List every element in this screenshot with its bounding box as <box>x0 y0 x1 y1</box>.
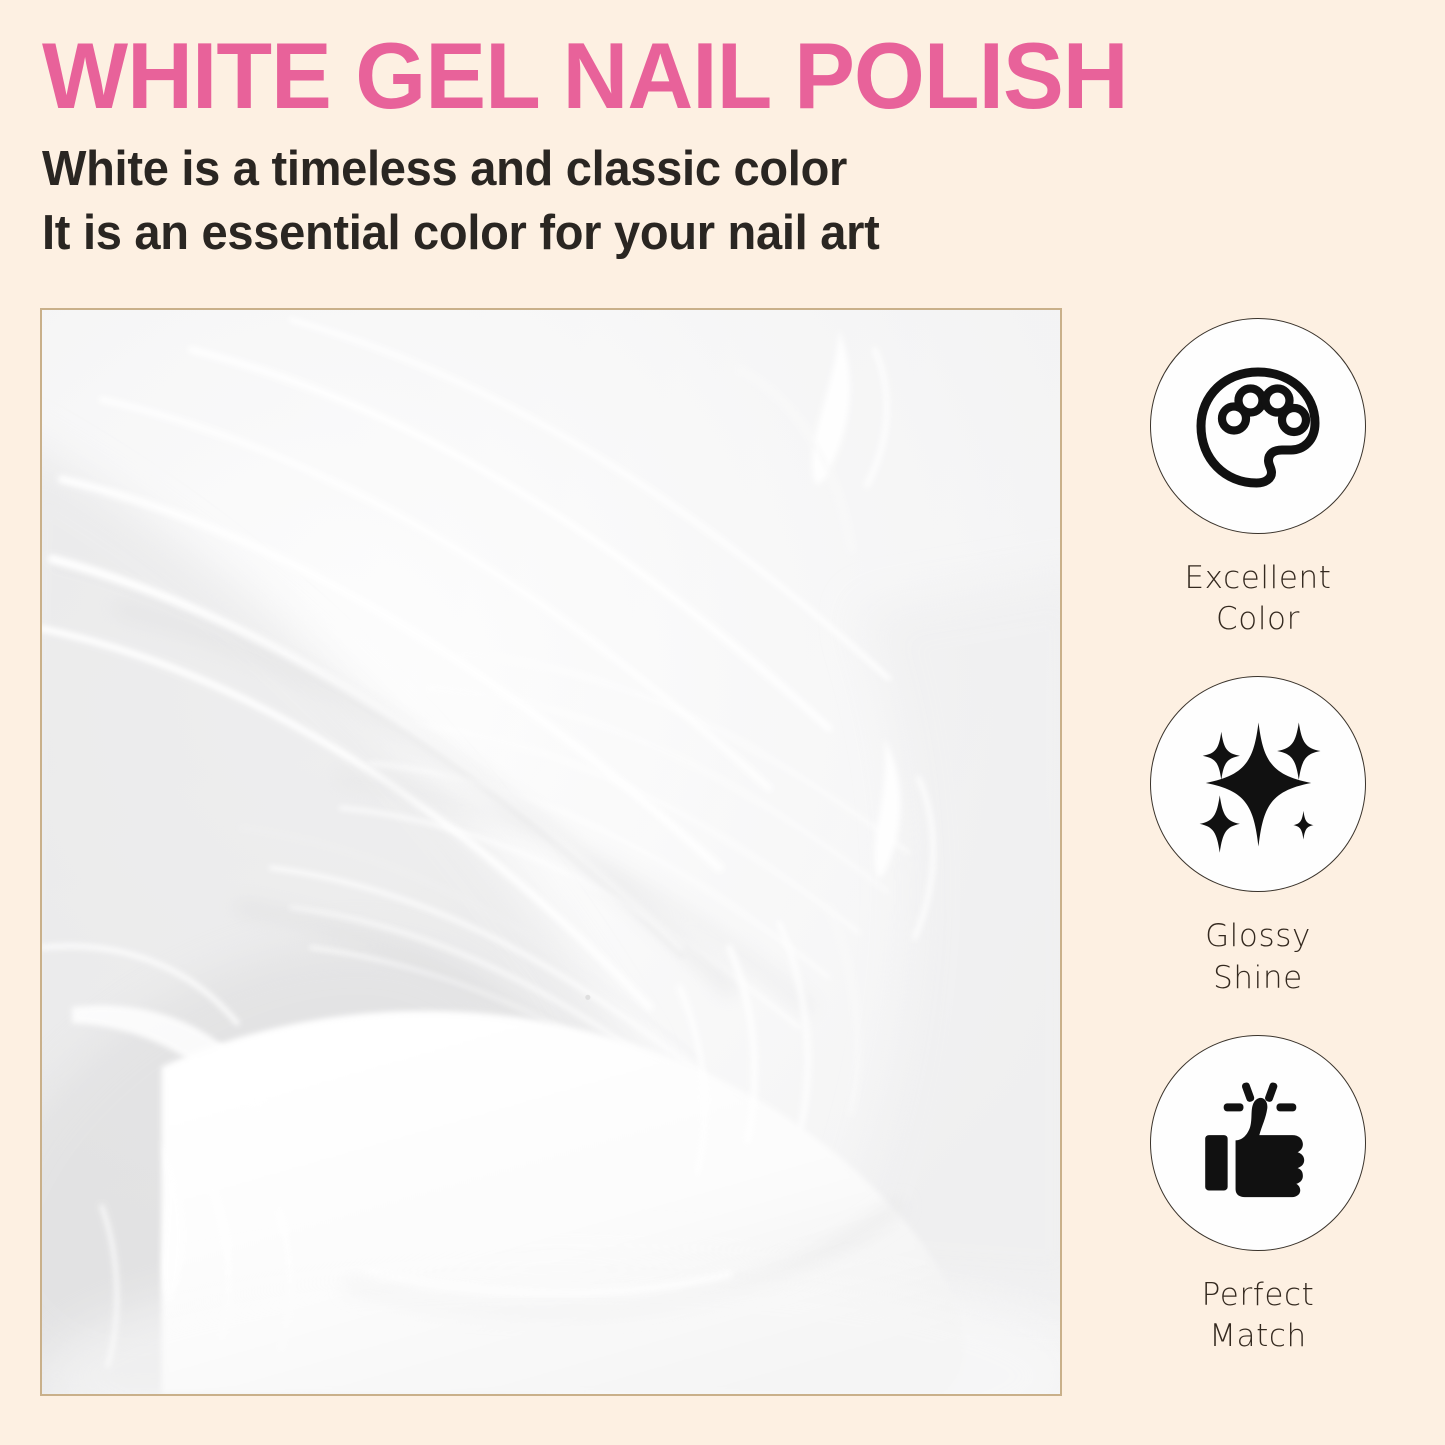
feature-item-excellent-color[interactable]: Excellent Color <box>1118 318 1398 640</box>
feature-label-line-2: Match <box>1202 1316 1315 1357</box>
feature-label: Excellent Color <box>1184 558 1331 640</box>
subtitle-line-1: White is a timeless and classic color <box>42 138 1194 202</box>
subtitle-line-2: It is an essential color for your nail a… <box>42 202 1194 266</box>
feature-label: Glossy Shine <box>1205 916 1311 998</box>
feature-item-glossy-shine[interactable]: Glossy Shine <box>1118 676 1398 998</box>
header-block: WHITE GEL NAIL POLISH White is a timeles… <box>42 30 1242 265</box>
feature-label-line-1: Excellent <box>1184 558 1331 599</box>
feature-label-line-1: Glossy <box>1205 916 1311 957</box>
feature-label-line-2: Shine <box>1205 958 1311 999</box>
feature-list: Excellent Color Glossy Shine <box>1118 318 1398 1393</box>
thumbs-up-icon <box>1192 1077 1324 1209</box>
page-title: WHITE GEL NAIL POLISH <box>42 30 1206 122</box>
product-photo <box>42 310 1060 1394</box>
feature-label-line-1: Perfect <box>1202 1275 1315 1316</box>
subtitle-block: White is a timeless and classic color It… <box>42 138 1242 265</box>
feature-label-line-2: Color <box>1184 599 1331 640</box>
feature-label: Perfect Match <box>1202 1275 1315 1357</box>
sparkle-icon <box>1181 707 1336 862</box>
feature-badge <box>1150 318 1366 534</box>
feature-badge <box>1150 1035 1366 1251</box>
feature-badge <box>1150 676 1366 892</box>
feature-item-perfect-match[interactable]: Perfect Match <box>1118 1035 1398 1357</box>
palette-icon <box>1183 351 1333 501</box>
product-photo-frame <box>40 308 1062 1396</box>
